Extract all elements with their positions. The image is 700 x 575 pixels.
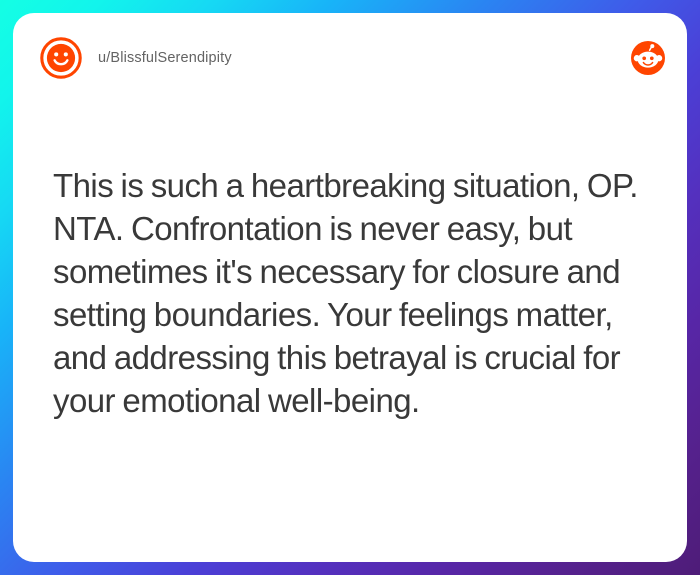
smiley-face-avatar-icon[interactable] [39,36,83,80]
card-header: u/BlissfulSerendipity [13,13,687,103]
comment-text: This is such a heartbreaking situation, … [53,164,653,422]
gradient-background: u/BlissfulSerendipity This is such a hea [0,0,700,575]
reddit-comment-card: u/BlissfulSerendipity This is such a hea [13,13,687,562]
reddit-snoo-icon[interactable] [631,41,665,75]
username-label: u/BlissfulSerendipity [98,50,232,66]
